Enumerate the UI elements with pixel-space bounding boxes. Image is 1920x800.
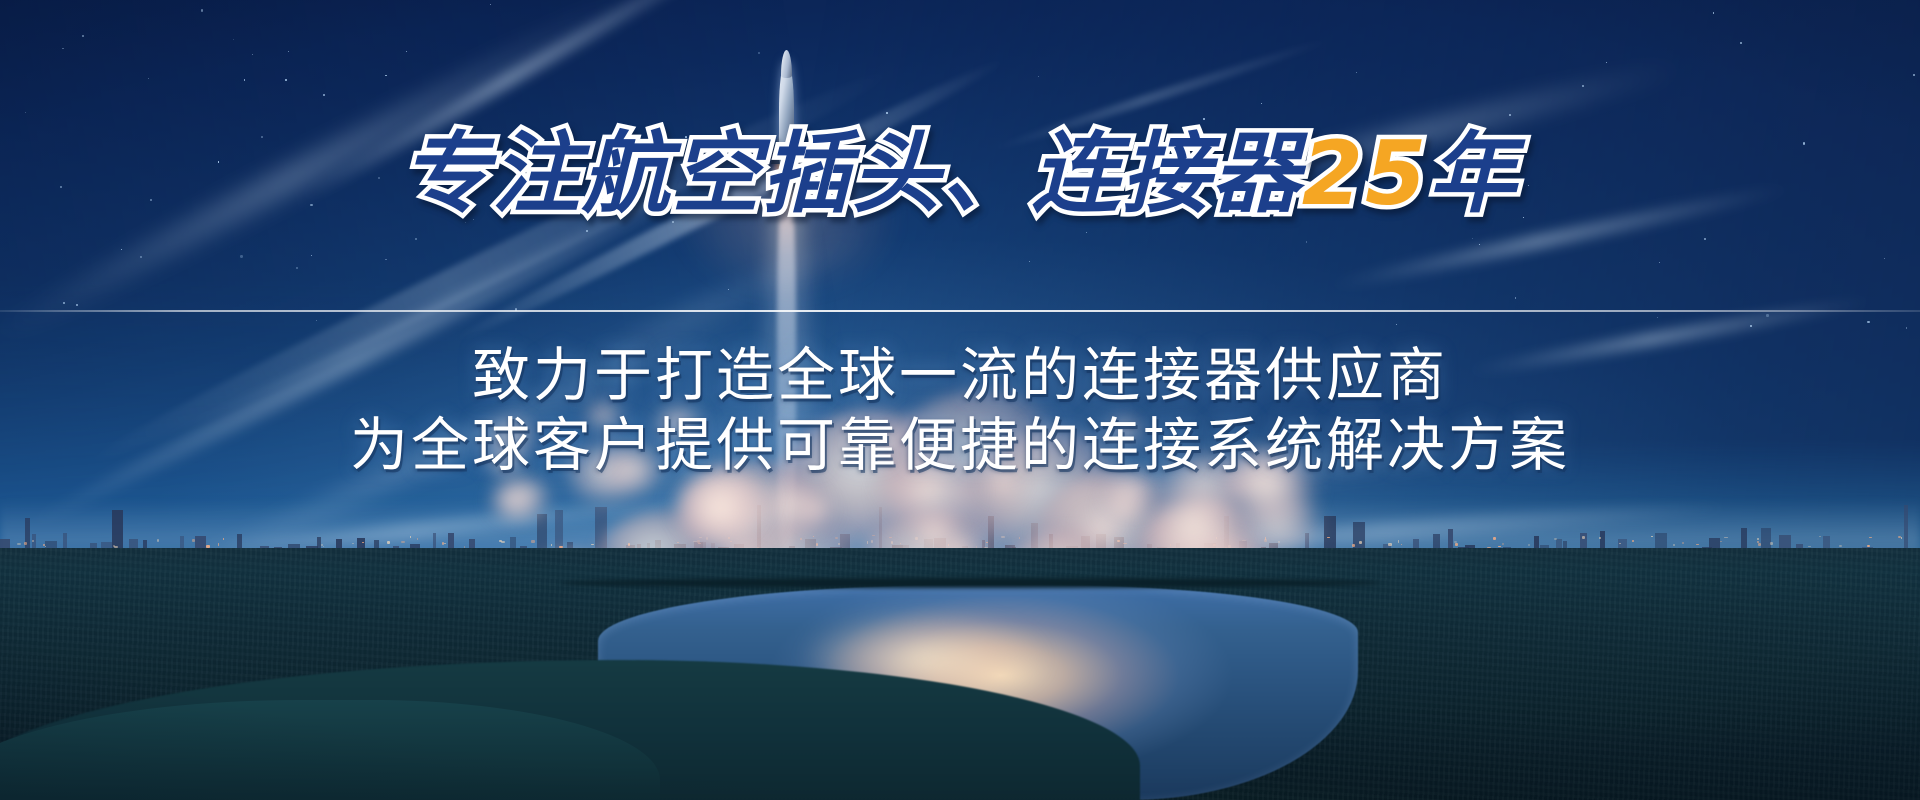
- headline: 专注航空插头、连接器25年: [0, 130, 1920, 218]
- headline-segment-number: 25: [1302, 130, 1428, 218]
- hero-banner: 专注航空插头、连接器25年 致力于打造全球一流的连接器供应商 为全球客户提供可靠…: [0, 0, 1920, 800]
- headline-divider: [0, 310, 1920, 312]
- subtitle: 致力于打造全球一流的连接器供应商 为全球客户提供可靠便捷的连接系统解决方案: [0, 340, 1920, 480]
- headline-segment-3: 年: [1428, 130, 1518, 218]
- subtitle-line-1: 致力于打造全球一流的连接器供应商: [0, 340, 1920, 410]
- headline-segment-1: 专注航空插头、连接器: [402, 130, 1302, 218]
- banner-content: 专注航空插头、连接器25年 致力于打造全球一流的连接器供应商 为全球客户提供可靠…: [0, 0, 1920, 800]
- subtitle-line-2: 为全球客户提供可靠便捷的连接系统解决方案: [0, 410, 1920, 480]
